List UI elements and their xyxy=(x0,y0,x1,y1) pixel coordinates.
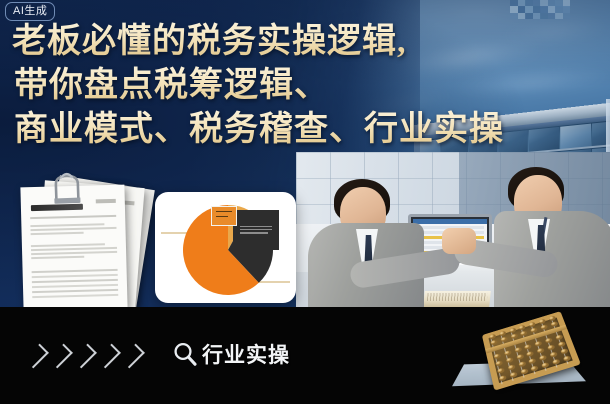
abacus-bead xyxy=(520,330,528,336)
abacus-bead xyxy=(497,367,505,374)
abacus-bead xyxy=(540,324,548,330)
chevron-right-icon xyxy=(120,344,145,369)
abacus-bead xyxy=(545,337,553,343)
abacus-bead xyxy=(504,350,512,356)
chevron-right-icon xyxy=(24,344,49,369)
abacus-bead xyxy=(499,375,507,382)
abacus-bead xyxy=(490,339,498,345)
businessman-right xyxy=(470,161,610,307)
document-table xyxy=(32,269,119,301)
abacus-bead xyxy=(555,334,563,340)
abacus-bead xyxy=(537,347,545,353)
abacus-bead xyxy=(550,351,558,358)
abacus-bead xyxy=(541,362,549,369)
abacus-bead xyxy=(507,364,515,371)
chevron-arrow-group xyxy=(30,345,139,367)
abacus-bead xyxy=(539,355,547,362)
document-paragraph xyxy=(30,223,116,237)
search-label-group[interactable]: 行业实操 xyxy=(172,339,290,369)
abacus-bead xyxy=(526,351,534,358)
abacus-bead xyxy=(494,353,502,359)
two-businessmen-handshake xyxy=(296,152,610,307)
document-stack-with-binder-clip xyxy=(6,170,152,310)
abacus-bead xyxy=(550,321,558,327)
chevron-right-icon xyxy=(96,344,121,369)
title-line-1: 老板必懂的税务实操逻辑, xyxy=(12,20,598,64)
handshake-clasp xyxy=(442,228,476,254)
abacus-bead xyxy=(518,361,526,368)
abacus-bead xyxy=(500,336,508,342)
abacus-bead xyxy=(552,359,561,366)
document-divider xyxy=(30,215,116,219)
chart-callout-tag xyxy=(211,206,237,226)
blurred-watermark xyxy=(510,0,570,19)
document-heading xyxy=(31,204,83,211)
abacus-bead xyxy=(560,348,568,355)
abacus-bead xyxy=(495,360,503,367)
abacus-bead xyxy=(531,365,539,372)
abacus-bead xyxy=(509,372,517,379)
chevron-right-icon xyxy=(48,344,73,369)
bottom-bar: 行业实操 xyxy=(0,307,610,404)
magnifier-icon[interactable] xyxy=(172,341,198,367)
document-paragraph xyxy=(31,243,117,261)
poster-canvas: AI生成 老板必懂的税务实操逻辑, 带你盘点税筹逻辑、 商业模式、税务稽查、行业… xyxy=(0,0,610,404)
abacus-bead xyxy=(510,333,518,339)
title-line-3: 商业模式、税务稽查、行业实操 xyxy=(14,108,598,152)
abacus-bead xyxy=(514,347,522,353)
ai-generated-badge: AI生成 xyxy=(5,2,55,21)
abacus-bead xyxy=(506,357,514,364)
abacus-bead xyxy=(547,344,555,350)
mosaic-block xyxy=(563,13,571,19)
abacus-bead xyxy=(530,327,538,333)
abacus-bead xyxy=(558,341,566,347)
abacus-bead xyxy=(535,341,543,347)
pie-chart-card xyxy=(155,192,296,303)
chevron-right-icon xyxy=(72,344,97,369)
ai-badge-label: AI生成 xyxy=(13,5,47,17)
abacus-bead xyxy=(563,355,572,362)
page-title: 老板必懂的税务实操逻辑, 带你盘点税筹逻辑、 商业模式、税务稽查、行业实操 xyxy=(12,20,598,152)
abacus-bead xyxy=(516,354,524,361)
binder-clip-icon xyxy=(49,171,84,204)
wooden-abacus xyxy=(468,314,588,396)
abacus-bead xyxy=(529,358,537,365)
abacus-bead xyxy=(520,368,528,375)
bottom-bar-label: 行业实操 xyxy=(202,339,290,369)
document-header-mark xyxy=(96,199,116,204)
abacus-bead xyxy=(524,344,532,350)
businessman-left xyxy=(304,169,444,307)
pie-chart xyxy=(155,192,296,303)
chart-legend-block xyxy=(233,210,279,250)
title-line-2: 带你盘点税筹逻辑、 xyxy=(14,64,598,108)
